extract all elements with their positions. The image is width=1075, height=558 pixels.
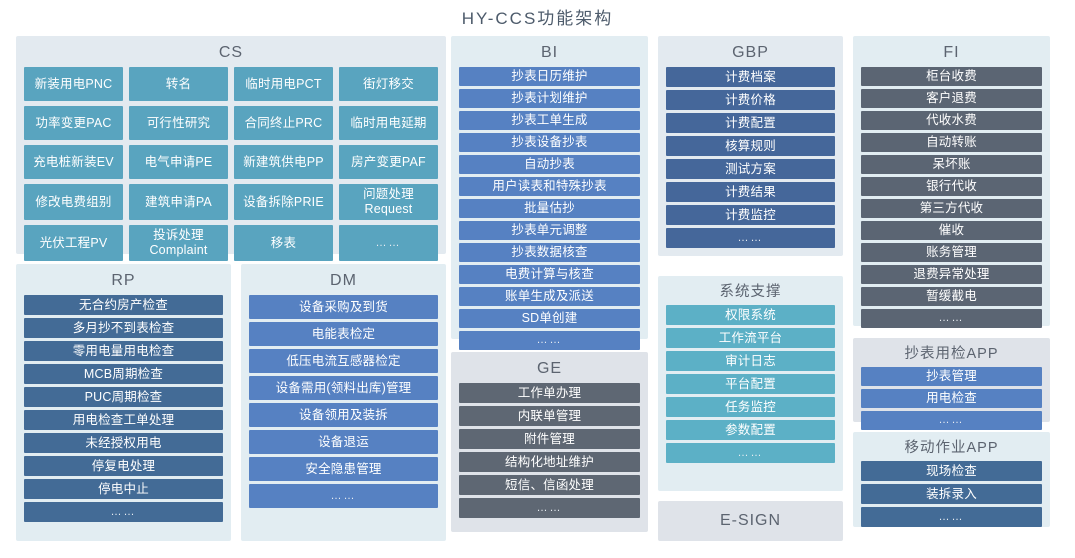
rp-item[interactable]: 未经授权用电 bbox=[24, 433, 223, 453]
panel-fi: FI 柜台收费 客户退费 代收水费 自动转账 呆坏账 银行代收 第三方代收 催收… bbox=[853, 36, 1050, 326]
fi-item[interactable]: 暂缓截电 bbox=[861, 287, 1042, 306]
cs-item[interactable]: 街灯移交 bbox=[339, 67, 438, 101]
panel-cs-items: 新装用电PNC 转名 临时用电PCT 街灯移交 功率变更PAC 可行性研究 合同… bbox=[24, 67, 438, 261]
ge-item[interactable]: 工作单办理 bbox=[459, 383, 640, 403]
panel-bi-title: BI bbox=[459, 42, 640, 67]
rp-item[interactable]: 停电中止 bbox=[24, 479, 223, 499]
gbp-item[interactable]: 核算规则 bbox=[666, 136, 835, 156]
panel-system-support: 系统支撑 权限系统 工作流平台 审计日志 平台配置 任务监控 参数配置 …… bbox=[658, 276, 843, 491]
panel-ge-items: 工作单办理 内联单管理 附件管理 结构化地址维护 短信、信函处理 …… bbox=[459, 383, 640, 518]
fi-item[interactable]: 银行代收 bbox=[861, 177, 1042, 196]
cs-item[interactable]: 转名 bbox=[129, 67, 228, 101]
fi-item[interactable]: 呆坏账 bbox=[861, 155, 1042, 174]
panel-meter-reading-app: 抄表用检APP 抄表管理 用电检查 …… bbox=[853, 338, 1050, 422]
sys-item[interactable]: 审计日志 bbox=[666, 351, 835, 371]
cs-item[interactable]: 临时用电延期 bbox=[339, 106, 438, 140]
gbp-item[interactable]: 计费结果 bbox=[666, 182, 835, 202]
panel-meter-reading-app-title: 抄表用检APP bbox=[861, 344, 1042, 367]
dm-item[interactable]: 低压电流互感器检定 bbox=[249, 349, 438, 373]
fi-item[interactable]: 催收 bbox=[861, 221, 1042, 240]
panel-esign: E-SIGN bbox=[658, 501, 843, 541]
panel-system-support-items: 权限系统 工作流平台 审计日志 平台配置 任务监控 参数配置 …… bbox=[666, 305, 835, 463]
sys-item[interactable]: 权限系统 bbox=[666, 305, 835, 325]
sys-item-more[interactable]: …… bbox=[666, 443, 835, 463]
gbp-item[interactable]: 测试方案 bbox=[666, 159, 835, 179]
cs-item[interactable]: 问题处理 Request bbox=[339, 184, 438, 220]
cs-item[interactable]: 可行性研究 bbox=[129, 106, 228, 140]
bi-item[interactable]: 抄表工单生成 bbox=[459, 111, 640, 130]
cs-item[interactable]: 合同终止PRC bbox=[234, 106, 333, 140]
mobile-app-item[interactable]: 现场检查 bbox=[861, 461, 1042, 481]
cs-item[interactable]: 投诉处理 Complaint bbox=[129, 225, 228, 261]
sys-item[interactable]: 平台配置 bbox=[666, 374, 835, 394]
rp-item[interactable]: 零用电量用电检查 bbox=[24, 341, 223, 361]
sys-item[interactable]: 任务监控 bbox=[666, 397, 835, 417]
rp-item[interactable]: 用电检查工单处理 bbox=[24, 410, 223, 430]
bi-item[interactable]: 抄表设备抄表 bbox=[459, 133, 640, 152]
panel-rp-items: 无合约房产检查 多月抄不到表检查 零用电量用电检查 MCB周期检查 PUC周期检… bbox=[24, 295, 223, 522]
cs-item[interactable]: 新装用电PNC bbox=[24, 67, 123, 101]
panel-dm-title: DM bbox=[249, 270, 438, 295]
panel-ge-title: GE bbox=[459, 358, 640, 383]
rp-item[interactable]: PUC周期检查 bbox=[24, 387, 223, 407]
cs-item[interactable]: 临时用电PCT bbox=[234, 67, 333, 101]
cs-item[interactable]: 移表 bbox=[234, 225, 333, 261]
cs-item[interactable]: 修改电费组别 bbox=[24, 184, 123, 220]
panel-esign-title: E-SIGN bbox=[666, 507, 835, 535]
cs-item[interactable]: 建筑申请PA bbox=[129, 184, 228, 220]
bi-item[interactable]: 抄表日历维护 bbox=[459, 67, 640, 86]
fi-item[interactable]: 客户退费 bbox=[861, 89, 1042, 108]
rp-item[interactable]: 停复电处理 bbox=[24, 456, 223, 476]
panel-gbp-title: GBP bbox=[666, 42, 835, 67]
fi-item[interactable]: 柜台收费 bbox=[861, 67, 1042, 86]
dm-item[interactable]: 设备需用(领料出库)管理 bbox=[249, 376, 438, 400]
meter-app-item[interactable]: 用电检查 bbox=[861, 389, 1042, 408]
bi-item[interactable]: 抄表单元调整 bbox=[459, 221, 640, 240]
rp-item[interactable]: 无合约房产检查 bbox=[24, 295, 223, 315]
panel-gbp: GBP 计费档案 计费价格 计费配置 核算规则 测试方案 计费结果 计费监控 …… bbox=[658, 36, 843, 256]
panel-fi-items: 柜台收费 客户退费 代收水费 自动转账 呆坏账 银行代收 第三方代收 催收 账务… bbox=[861, 67, 1042, 328]
cs-item[interactable]: 功率变更PAC bbox=[24, 106, 123, 140]
bi-item[interactable]: 电费计算与核查 bbox=[459, 265, 640, 284]
panel-cs: CS 新装用电PNC 转名 临时用电PCT 街灯移交 功率变更PAC 可行性研究… bbox=[16, 36, 446, 254]
gbp-item[interactable]: 计费监控 bbox=[666, 205, 835, 225]
dm-item[interactable]: 设备领用及装拆 bbox=[249, 403, 438, 427]
cs-item-more[interactable]: …… bbox=[339, 225, 438, 261]
ge-item[interactable]: 内联单管理 bbox=[459, 406, 640, 426]
mobile-app-item[interactable]: 装拆录入 bbox=[861, 484, 1042, 504]
cs-item[interactable]: 光伏工程PV bbox=[24, 225, 123, 261]
mobile-app-item-more[interactable]: …… bbox=[861, 507, 1042, 527]
dm-item[interactable]: 电能表检定 bbox=[249, 322, 438, 346]
fi-item-more[interactable]: …… bbox=[861, 309, 1042, 328]
cs-item[interactable]: 设备拆除PRIE bbox=[234, 184, 333, 220]
panel-mobile-work-app-items: 现场检查 装拆录入 …… bbox=[861, 461, 1042, 527]
cs-item[interactable]: 充电桩新装EV bbox=[24, 145, 123, 179]
cs-item[interactable]: 房产变更PAF bbox=[339, 145, 438, 179]
cs-item[interactable]: 新建筑供电PP bbox=[234, 145, 333, 179]
panel-ge: GE 工作单办理 内联单管理 附件管理 结构化地址维护 短信、信函处理 …… bbox=[451, 352, 648, 532]
panel-mobile-work-app: 移动作业APP 现场检查 装拆录入 …… bbox=[853, 432, 1050, 527]
panel-rp-title: RP bbox=[24, 270, 223, 295]
panel-rp: RP 无合约房产检查 多月抄不到表检查 零用电量用电检查 MCB周期检查 PUC… bbox=[16, 264, 231, 541]
bi-item[interactable]: 用户读表和特殊抄表 bbox=[459, 177, 640, 196]
fi-item[interactable]: 代收水费 bbox=[861, 111, 1042, 130]
meter-app-item[interactable]: 抄表管理 bbox=[861, 367, 1042, 386]
bi-item[interactable]: SD单创建 bbox=[459, 309, 640, 328]
dm-item[interactable]: 设备采购及到货 bbox=[249, 295, 438, 319]
gbp-item-more[interactable]: …… bbox=[666, 228, 835, 248]
ge-item-more[interactable]: …… bbox=[459, 498, 640, 518]
bi-item[interactable]: 抄表数据核查 bbox=[459, 243, 640, 262]
gbp-item[interactable]: 计费档案 bbox=[666, 67, 835, 87]
panel-cs-title: CS bbox=[24, 42, 438, 67]
bi-item[interactable]: 批量估抄 bbox=[459, 199, 640, 218]
panel-dm: DM 设备采购及到货 电能表检定 低压电流互感器检定 设备需用(领料出库)管理 … bbox=[241, 264, 446, 541]
dm-item[interactable]: 安全隐患管理 bbox=[249, 457, 438, 481]
panel-bi: BI 抄表日历维护 抄表计划维护 抄表工单生成 抄表设备抄表 自动抄表 用户读表… bbox=[451, 36, 648, 339]
panel-bi-items: 抄表日历维护 抄表计划维护 抄表工单生成 抄表设备抄表 自动抄表 用户读表和特殊… bbox=[459, 67, 640, 350]
fi-item[interactable]: 账务管理 bbox=[861, 243, 1042, 262]
rp-item[interactable]: 多月抄不到表检查 bbox=[24, 318, 223, 338]
fi-item[interactable]: 第三方代收 bbox=[861, 199, 1042, 218]
bi-item-more[interactable]: …… bbox=[459, 331, 640, 350]
rp-item-more[interactable]: …… bbox=[24, 502, 223, 522]
gbp-item[interactable]: 计费价格 bbox=[666, 90, 835, 110]
panel-gbp-items: 计费档案 计费价格 计费配置 核算规则 测试方案 计费结果 计费监控 …… bbox=[666, 67, 835, 248]
bi-item[interactable]: 自动抄表 bbox=[459, 155, 640, 174]
rp-item[interactable]: MCB周期检查 bbox=[24, 364, 223, 384]
dm-item[interactable]: 设备退运 bbox=[249, 430, 438, 454]
bi-item[interactable]: 抄表计划维护 bbox=[459, 89, 640, 108]
ge-item[interactable]: 短信、信函处理 bbox=[459, 475, 640, 495]
fi-item[interactable]: 退费异常处理 bbox=[861, 265, 1042, 284]
fi-item[interactable]: 自动转账 bbox=[861, 133, 1042, 152]
panel-fi-title: FI bbox=[861, 42, 1042, 67]
panel-system-support-title: 系统支撑 bbox=[666, 282, 835, 305]
bi-item[interactable]: 账单生成及派送 bbox=[459, 287, 640, 306]
gbp-item[interactable]: 计费配置 bbox=[666, 113, 835, 133]
page-title: HY-CCS功能架构 bbox=[0, 4, 1075, 29]
ge-item[interactable]: 附件管理 bbox=[459, 429, 640, 449]
sys-item[interactable]: 工作流平台 bbox=[666, 328, 835, 348]
ge-item[interactable]: 结构化地址维护 bbox=[459, 452, 640, 472]
panel-meter-reading-app-items: 抄表管理 用电检查 …… bbox=[861, 367, 1042, 430]
sys-item[interactable]: 参数配置 bbox=[666, 420, 835, 440]
panel-mobile-work-app-title: 移动作业APP bbox=[861, 438, 1042, 461]
cs-item[interactable]: 电气申请PE bbox=[129, 145, 228, 179]
meter-app-item-more[interactable]: …… bbox=[861, 411, 1042, 430]
dm-item-more[interactable]: …… bbox=[249, 484, 438, 508]
panel-dm-items: 设备采购及到货 电能表检定 低压电流互感器检定 设备需用(领料出库)管理 设备领… bbox=[249, 295, 438, 508]
